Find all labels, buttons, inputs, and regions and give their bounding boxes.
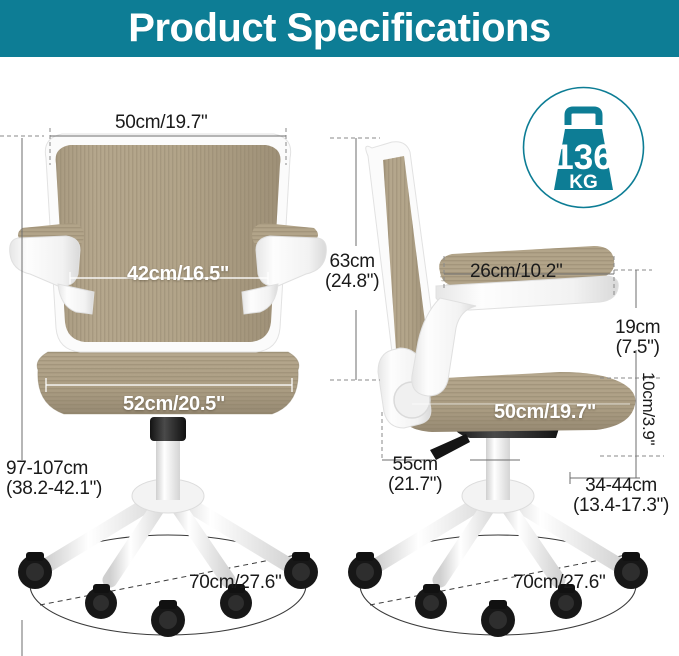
label-side-seat-height-line1: 34-44cm [573,476,669,496]
label-front-top-width: 50cm/19.7" [115,113,207,133]
label-side-backrest-height: 63cm (24.8") [325,252,379,292]
label-front-seat-width: 52cm/20.5" [123,394,225,415]
label-side-seat-thickness: 10cm/3.9" [639,372,657,445]
label-front-overall-height: 97-107cm (38.2-42.1") [6,459,102,499]
illustration-stage [0,60,679,656]
label-side-armrest-height-line2: (7.5") [615,338,660,358]
page-title: Product Specifications [0,0,679,57]
label-side-seat-front-depth-line2: (21.7") [388,475,442,495]
label-side-base-diameter: 70cm/27.6" [513,573,605,593]
label-side-seat-depth: 50cm/19.7" [494,402,596,423]
label-side-backrest-height-line2: (24.8") [325,272,379,292]
label-front-backrest-width: 42cm/16.5" [127,264,229,285]
label-side-seat-front-depth-line1: 55cm [388,455,442,475]
front-cylinder-collar [150,417,186,441]
label-side-seat-front-depth: 55cm (21.7") [388,455,442,495]
label-side-seat-height-line2: (13.4-17.3") [573,496,669,516]
label-side-armrest-height: 19cm (7.5") [615,318,660,358]
label-side-seat-height: 34-44cm (13.4-17.3") [573,476,669,516]
label-side-armrest-depth: 26cm/10.2" [470,262,562,282]
label-front-base-diameter: 70cm/27.6" [189,573,281,593]
product-specifications-page: Product Specifications 136 KG [0,0,679,656]
label-side-armrest-height-line1: 19cm [615,318,660,338]
chair-side-view [330,138,664,637]
label-front-overall-height-line2: (38.2-42.1") [6,479,102,499]
label-side-backrest-height-line1: 63cm [325,252,379,272]
label-front-overall-height-line1: 97-107cm [6,459,102,479]
